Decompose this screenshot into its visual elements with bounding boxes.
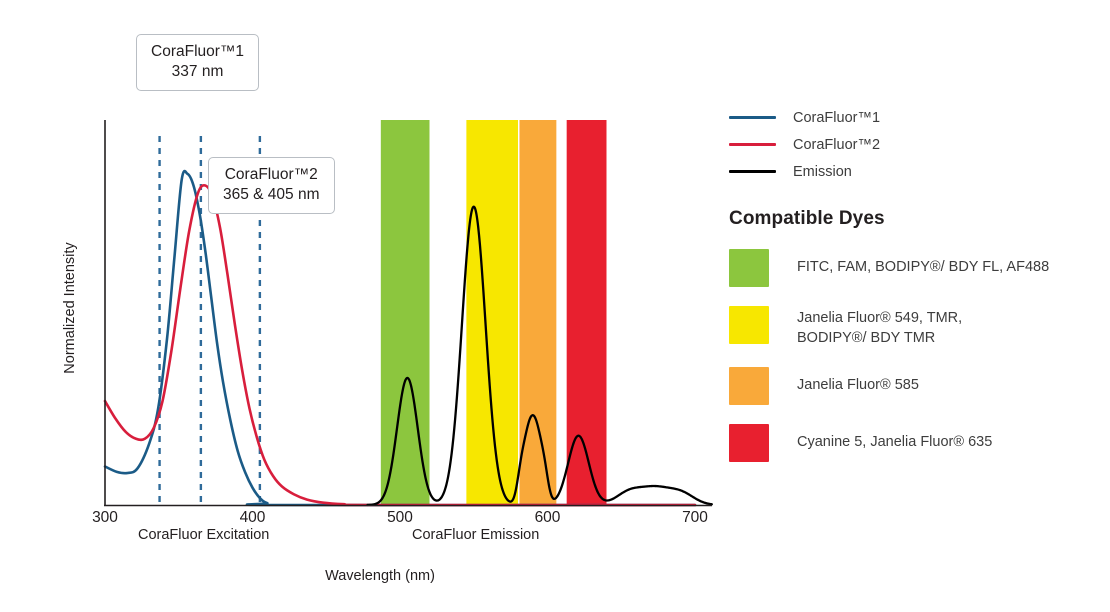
legend-line-swatch bbox=[729, 116, 776, 119]
callout-cf1-line2: 337 nm bbox=[151, 62, 244, 82]
x-tick-700: 700 bbox=[665, 509, 725, 527]
y-axis-title: Normalized Intensity bbox=[62, 208, 78, 408]
dye-row: Cyanine 5, Janelia Fluor® 635 bbox=[729, 424, 1099, 462]
legend-line-swatch bbox=[729, 170, 776, 173]
legend-series-row: CoraFluor™2 bbox=[729, 131, 1099, 158]
x-axis-region-excitation: CoraFluor Excitation bbox=[138, 527, 269, 543]
callout-corafluor-1: CoraFluor™1 337 nm bbox=[136, 34, 259, 91]
x-axis-region-emission: CoraFluor Emission bbox=[412, 527, 539, 543]
dye-color-swatch bbox=[729, 249, 769, 287]
legend-series-label: CoraFluor™2 bbox=[793, 137, 880, 153]
chart-page: CoraFluor™1 337 nm CoraFluor™2 365 & 405… bbox=[0, 0, 1110, 612]
callout-cf2-line2: 365 & 405 nm bbox=[223, 185, 320, 205]
dye-row: Janelia Fluor® 549, TMR, BODIPY®/ BDY TM… bbox=[729, 306, 1099, 348]
dye-color-swatch bbox=[729, 367, 769, 405]
dye-label: Cyanine 5, Janelia Fluor® 635 bbox=[797, 424, 992, 452]
green-band bbox=[381, 120, 430, 505]
x-tick-400: 400 bbox=[223, 509, 283, 527]
dye-row: Janelia Fluor® 585 bbox=[729, 367, 1099, 405]
dye-row: FITC, FAM, BODIPY®/ BDY FL, AF488 bbox=[729, 249, 1099, 287]
callout-corafluor-2: CoraFluor™2 365 & 405 nm bbox=[208, 157, 335, 214]
x-axis-title: Wavelength (nm) bbox=[0, 568, 760, 584]
callout-cf2-line1: CoraFluor™2 bbox=[223, 165, 320, 185]
x-tick-300: 300 bbox=[75, 509, 135, 527]
legend-series-label: CoraFluor™1 bbox=[793, 110, 880, 126]
dye-color-swatch bbox=[729, 306, 769, 344]
dye-label: FITC, FAM, BODIPY®/ BDY FL, AF488 bbox=[797, 249, 1049, 277]
yellow-band bbox=[466, 120, 518, 505]
dye-label: Janelia Fluor® 585 bbox=[797, 367, 919, 395]
orange-band bbox=[519, 120, 556, 505]
legend-series-row: CoraFluor™1 bbox=[729, 104, 1099, 131]
compatible-dyes-list: FITC, FAM, BODIPY®/ BDY FL, AF488Janelia… bbox=[729, 249, 1099, 462]
legend-panel: CoraFluor™1CoraFluor™2Emission Compatibl… bbox=[729, 104, 1099, 462]
x-tick-600: 600 bbox=[518, 509, 578, 527]
x-tick-500: 500 bbox=[370, 509, 430, 527]
series-legend: CoraFluor™1CoraFluor™2Emission bbox=[729, 104, 1099, 185]
legend-line-swatch bbox=[729, 143, 776, 146]
legend-series-label: Emission bbox=[793, 164, 852, 180]
compatible-dyes-heading: Compatible Dyes bbox=[729, 208, 1099, 230]
callout-cf1-line1: CoraFluor™1 bbox=[151, 42, 244, 62]
legend-series-row: Emission bbox=[729, 158, 1099, 185]
dye-label: Janelia Fluor® 549, TMR, BODIPY®/ BDY TM… bbox=[797, 306, 962, 348]
dye-color-swatch bbox=[729, 424, 769, 462]
